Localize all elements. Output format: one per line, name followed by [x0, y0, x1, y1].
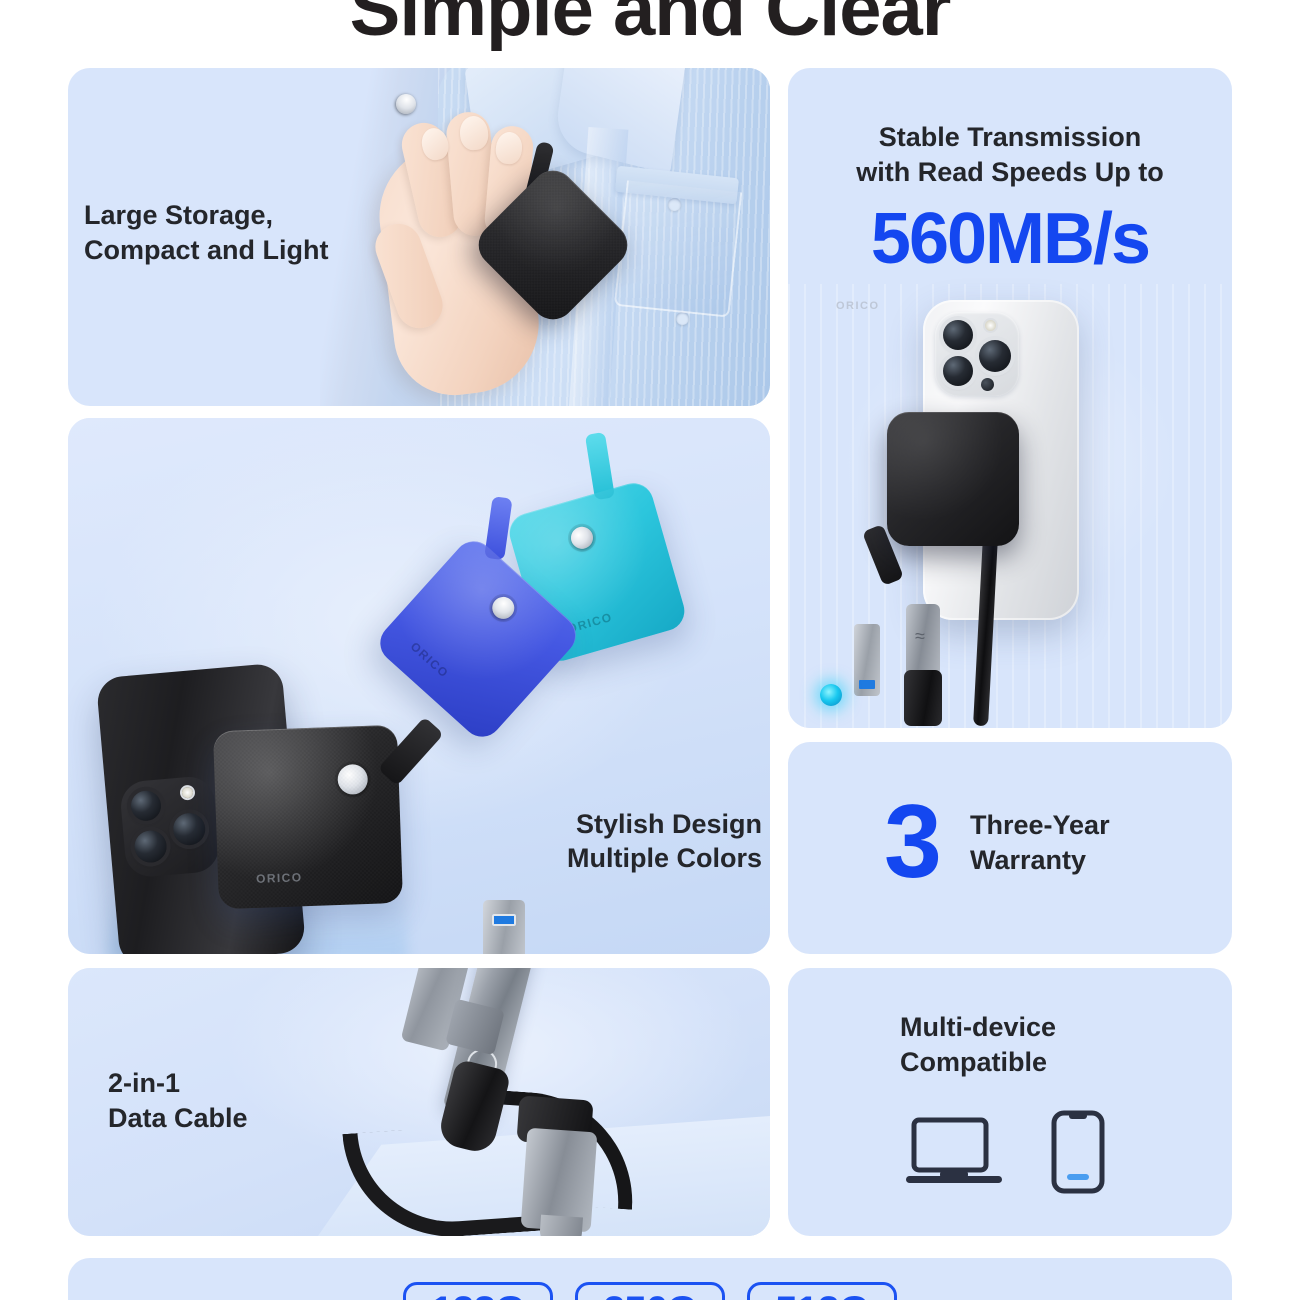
usb-c-tip — [539, 1215, 583, 1236]
capacity-badge[interactable]: 128G — [403, 1282, 553, 1300]
shirt-button — [676, 312, 689, 325]
capacity-badge[interactable]: 512G — [747, 1282, 897, 1300]
smartphone-icon — [1050, 1110, 1106, 1199]
card-data-cable: 2-in-1 Data Cable — [68, 968, 770, 1236]
page-title: Simple and Clear — [0, 0, 1300, 53]
camera-lens — [133, 829, 168, 864]
shirt-pocket — [614, 180, 743, 317]
ssd-brand-label: ORICO — [836, 300, 880, 312]
cable-boot — [904, 670, 942, 726]
card-warranty: 3 Three-Year Warranty — [788, 742, 1232, 954]
brand-label: ORICO — [256, 870, 303, 886]
card-large-storage: Large Storage, Compact and Light — [68, 68, 770, 406]
capacity-badge[interactable]: 256G — [575, 1282, 725, 1300]
ssd-device-attached — [887, 412, 1019, 546]
ssd-device-black: ORICO — [213, 725, 403, 909]
camera-island — [119, 775, 221, 879]
camera-flash — [985, 320, 996, 331]
capacity-badge-row: 128G 256G 512G — [68, 1282, 1232, 1300]
speed-value: 560MB/s — [788, 198, 1232, 280]
card-stylish-design: ORICO ORICO ORICO Stylish Design Multipl… — [68, 418, 770, 954]
laptop-icon — [906, 1116, 1002, 1195]
multi-device-title: Multi-device Compatible — [900, 1010, 1056, 1080]
ssd-phone-photo: ORICO — [788, 284, 1232, 728]
camera-lens — [979, 340, 1011, 372]
usb-c-connector — [906, 604, 940, 676]
lidar-sensor — [981, 378, 994, 391]
usb-a-plug — [483, 900, 525, 954]
camera-lens — [943, 356, 973, 386]
camera-lens — [172, 812, 207, 847]
ssd-button — [337, 764, 368, 795]
camera-lens — [943, 320, 973, 350]
lanyard-tab — [378, 717, 444, 786]
camera-island — [935, 312, 1019, 396]
card-capacity-options: 128G 256G 512G — [68, 1258, 1232, 1300]
ssd-led-indicator — [820, 684, 842, 706]
card-multi-device: Multi-device Compatible — [788, 968, 1232, 1236]
card-label-stylish-design: Stylish Design Multiple Colors — [462, 807, 762, 876]
camera-lens — [130, 790, 163, 823]
card-label-large-storage: Large Storage, Compact and Light — [84, 198, 414, 267]
gloss-highlight — [213, 725, 403, 909]
speed-heading: Stable Transmission with Read Speeds Up … — [788, 120, 1232, 189]
camera-flash — [182, 787, 194, 799]
product-feature-page: Simple and Clear — [0, 0, 1300, 1300]
usb-a-plug — [854, 624, 880, 696]
card-label-data-cable: 2-in-1 Data Cable — [108, 1066, 248, 1135]
warranty-number: 3 — [884, 790, 938, 894]
warranty-label: Three-Year Warranty — [970, 808, 1110, 878]
card-read-speed: Stable Transmission with Read Speeds Up … — [788, 68, 1232, 728]
